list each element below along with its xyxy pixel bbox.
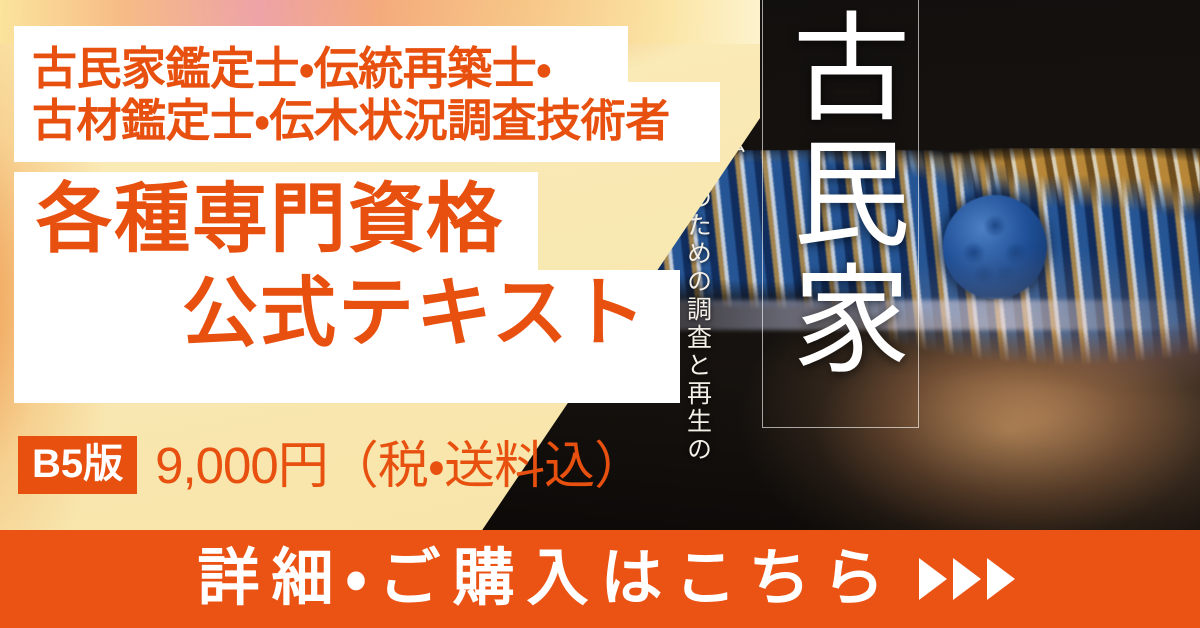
cta-button[interactable]: 詳細・ご購入はこちら: [0, 530, 1200, 628]
price-text: 9,000円（税・送料込）: [155, 440, 644, 491]
triangle-right-icon: [987, 558, 1015, 600]
promo-banner: 古民家 伝統構法 古民家活用のための調査と再生の 古民家鑑定士・伝統再築士・ 古…: [0, 0, 1200, 628]
size-badge: B5版: [18, 436, 137, 494]
cover-title: 古民家: [772, 6, 910, 426]
triangle-right-icon: [919, 558, 947, 600]
triangle-right-icon: [953, 558, 981, 600]
qualifications-text: 古民家鑑定士・伝統再築士・ 古材鑑定士・伝木状況調査技術者: [32, 43, 732, 147]
price-row: B5版 9,000円（税・送料込）: [18, 430, 718, 500]
headline-line-2: 公式テキスト: [182, 276, 648, 352]
cta-label: 詳細・ご購入はこちら: [185, 548, 896, 610]
qualifications-card: 古民家鑑定士・伝統再築士・ 古材鑑定士・伝木状況調査技術者: [14, 26, 720, 162]
cta-arrows: [919, 558, 1015, 600]
headline-line-1: 各種専門資格: [36, 182, 504, 258]
